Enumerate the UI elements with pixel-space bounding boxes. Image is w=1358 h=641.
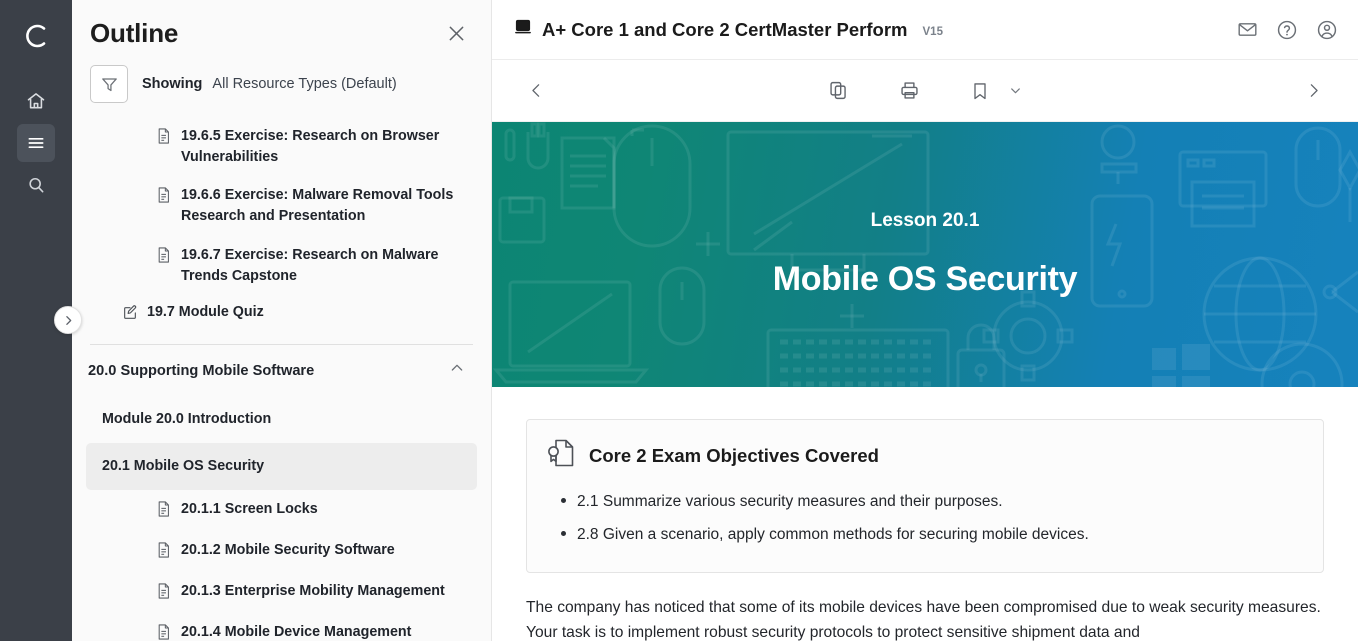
document-icon [156,540,172,563]
document-topbar: A+ Core 1 and Core 2 CertMaster Perform … [492,0,1358,60]
reader-body: Lesson 20.1 Mobile OS Security Core 2 [492,122,1358,641]
expand-panel-button[interactable] [54,306,82,334]
lesson-hero-banner: Lesson 20.1 Mobile OS Security [492,122,1358,387]
exam-objectives-header: Core 2 Exam Objectives Covered [547,438,1301,473]
showing-value[interactable]: All Resource Types (Default) [212,76,396,92]
list-item[interactable]: 20.1.2 Mobile Security Software [72,531,491,572]
topbar-actions [1237,19,1338,41]
hero-pattern-icons [492,122,1358,387]
topbar-left: A+ Core 1 and Core 2 CertMaster Perform … [514,18,943,41]
lesson-paragraph: The company has noticed that some of its… [526,595,1324,641]
toolbar-center [828,80,1023,101]
module-title: 20.0 Supporting Mobile Software [88,363,314,379]
objective-item: 2.1 Summarize various security measures … [577,485,1301,518]
exam-objectives-list: 2.1 Summarize various security measures … [547,485,1301,552]
close-icon[interactable] [443,21,469,47]
list-item-label: 19.6.5 Exercise: Research on Browser Vul… [181,126,469,167]
mail-icon[interactable] [1237,19,1258,40]
bookmark-icon[interactable] [970,81,990,101]
chevron-up-icon[interactable] [449,360,465,381]
list-item[interactable]: 19.6.7 Exercise: Research on Malware Tre… [72,236,491,295]
objective-item: 2.8 Given a scenario, apply common metho… [577,518,1301,551]
document-icon [156,499,172,522]
list-item[interactable]: 20.1.4 Mobile Device Management [72,613,491,641]
list-item-label: 20.1.4 Mobile Device Management [181,622,411,641]
outline-panel: Outline Showing All Resource Types (Defa… [72,0,492,641]
reader-toolbar [492,60,1358,122]
document-icon [156,245,172,268]
quiz-pencil-icon [122,302,138,325]
lesson-body: Core 2 Exam Objectives Covered 2.1 Summa… [492,387,1358,641]
left-nav-rail [0,0,72,641]
list-item-label: 19.7 Module Quiz [147,302,264,323]
list-item-label: 19.6.6 Exercise: Malware Removal Tools R… [181,185,469,226]
document-icon [156,126,172,149]
list-item-label: 20.1.1 Screen Locks [181,499,318,520]
list-item[interactable]: 20.1.3 Enterprise Mobility Management [72,572,491,613]
main-content: A+ Core 1 and Core 2 CertMaster Perform … [492,0,1358,641]
app-logo-icon[interactable] [14,14,58,58]
filter-row: Showing All Resource Types (Default) [72,55,491,117]
list-item-label: Module 20.0 Introduction [102,409,271,430]
chevron-down-icon[interactable] [1008,83,1023,98]
sidebar-item-outline[interactable] [17,124,55,162]
account-icon[interactable] [1316,19,1338,41]
list-item[interactable]: 20.1.1 Screen Locks [72,490,491,531]
document-icon [156,185,172,208]
document-title: A+ Core 1 and Core 2 CertMaster Perform [542,19,908,41]
list-item-selected[interactable]: 20.1 Mobile OS Security [86,443,477,490]
copy-icon[interactable] [828,80,849,101]
showing-label: Showing [142,76,202,92]
list-item[interactable]: 19.6.5 Exercise: Research on Browser Vul… [72,117,491,176]
list-item-label: 20.1.3 Enterprise Mobility Management [181,581,445,602]
list-item-label: 19.6.7 Exercise: Research on Malware Tre… [181,245,469,286]
outline-scroll-area: 19.6.5 Exercise: Research on Browser Vul… [72,117,491,641]
list-item-module-quiz[interactable]: 19.7 Module Quiz [72,295,491,332]
reader-book-icon [514,18,532,41]
list-item-label: 20.1 Mobile OS Security [102,456,264,477]
version-badge: V15 [923,26,943,38]
list-item[interactable]: 19.6.6 Exercise: Malware Removal Tools R… [72,176,491,235]
page-title: Outline [90,18,178,49]
app-root: Outline Showing All Resource Types (Defa… [0,0,1358,641]
filter-icon[interactable] [90,65,128,103]
list-item-label: 20.1.2 Mobile Security Software [181,540,395,561]
sidebar-item-search[interactable] [17,166,55,204]
help-icon[interactable] [1276,19,1298,41]
exam-objectives-box: Core 2 Exam Objectives Covered 2.1 Summa… [526,419,1324,573]
hero-lesson-label: Lesson 20.1 [871,210,980,232]
outline-header: Outline [72,0,491,55]
print-icon[interactable] [899,80,920,101]
prev-page-button[interactable] [522,76,551,105]
document-icon [156,622,172,641]
hero-heading: Mobile OS Security [773,260,1077,299]
module-header-20[interactable]: 20.0 Supporting Mobile Software [72,345,491,396]
exam-objectives-title: Core 2 Exam Objectives Covered [589,445,879,467]
document-icon [156,581,172,604]
certificate-document-icon [547,438,575,473]
outline-scrollbar[interactable] [481,117,487,641]
next-page-button[interactable] [1299,76,1328,105]
list-item-module-intro[interactable]: Module 20.0 Introduction [72,396,491,443]
sidebar-item-home[interactable] [17,82,55,120]
